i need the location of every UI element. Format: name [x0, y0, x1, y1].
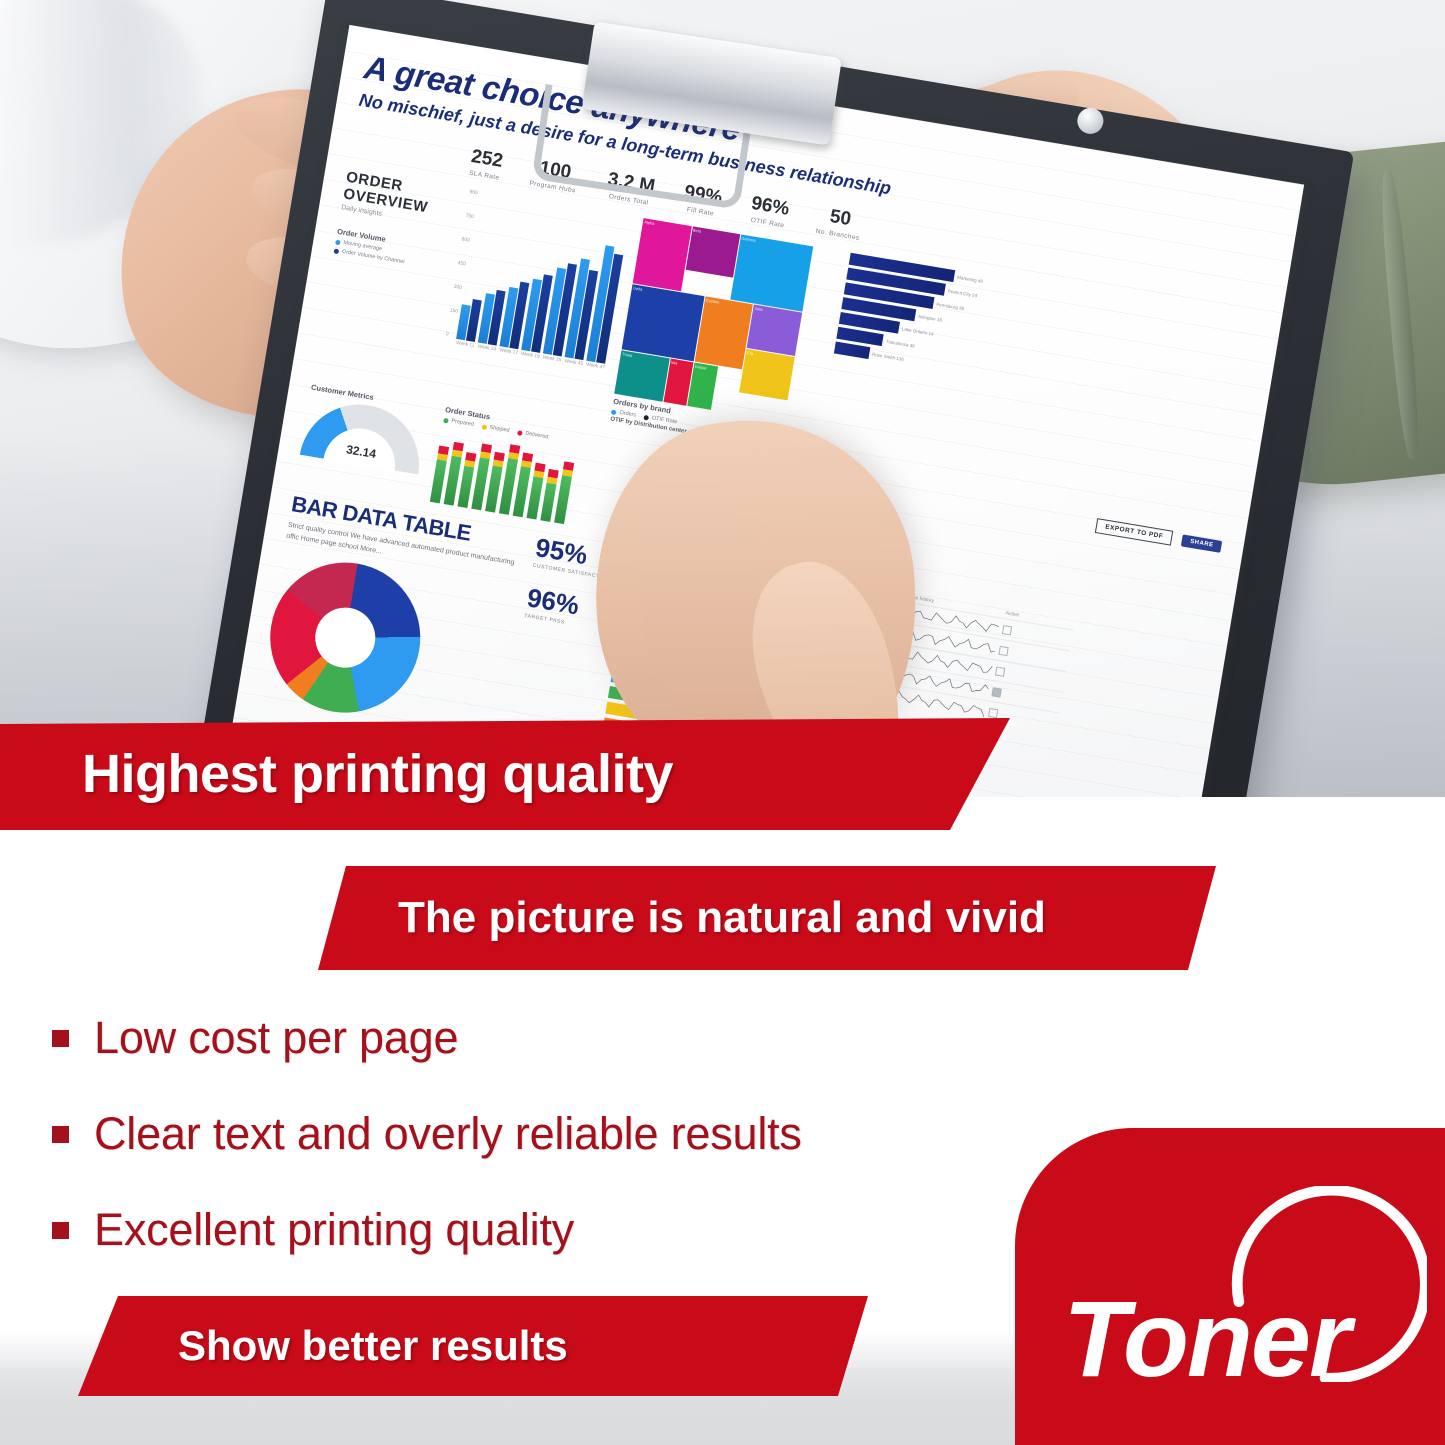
- x-tick: Week 17: [499, 348, 519, 356]
- funnel-bar: [834, 342, 870, 360]
- y-tick: 750: [465, 213, 474, 220]
- y-tick: 600: [461, 236, 470, 243]
- bar-group: [456, 191, 630, 364]
- treemap-tile: Gamma: [730, 234, 813, 311]
- checkbox[interactable]: [995, 666, 1005, 676]
- distribution-bar-chart: Marketing 46Peanut City 24Pennsburg 35Ar…: [817, 253, 1029, 487]
- report-actions: EXPORT TO PDF SHARE: [1082, 514, 1223, 632]
- kpi-value: 252: [470, 146, 505, 173]
- treemap-tile: Theta: [615, 351, 670, 402]
- feature-text: Excellent printing quality: [94, 1204, 574, 1256]
- secondary-banner-text: The picture is natural and vivid: [398, 893, 1046, 943]
- checkbox[interactable]: [988, 707, 998, 717]
- sleeve-fold: [1377, 169, 1422, 460]
- feature-text: Low cost per page: [94, 1012, 458, 1064]
- feature-item: Low cost per page: [52, 1012, 1012, 1064]
- legend-item: Shipped: [481, 423, 510, 434]
- treemap-tile: Eta: [740, 349, 795, 400]
- funnel-label: Arlington 18: [918, 313, 943, 322]
- y-tick: 0: [445, 331, 454, 338]
- y-tick: 150: [449, 307, 458, 314]
- feature-item: Clear text and overly reliable results: [52, 1108, 1012, 1160]
- order-overview-header: ORDER OVERVIEW Daily insights Order Volu…: [314, 169, 457, 391]
- feature-list: Low cost per page Clear text and overly …: [52, 1012, 1012, 1300]
- y-tick: 900: [469, 189, 478, 196]
- kpi-card: 252 SLA Rate: [468, 146, 504, 182]
- funnel-label: Lake Ontario 14: [902, 326, 934, 336]
- funnel-label: Rose Smith 136: [872, 351, 904, 361]
- x-tick: Week 11: [455, 341, 475, 349]
- order-status-panel: Order Status Prepared Shipped Delivered: [430, 405, 580, 524]
- primary-banner: Highest printing quality: [0, 718, 1010, 830]
- treemap-tile: Beta: [685, 226, 740, 277]
- x-tick: Week 33: [477, 344, 497, 352]
- brand-name: Toner: [1063, 1276, 1349, 1401]
- feature-text: Clear text and overly reliable results: [94, 1108, 802, 1160]
- kpi-card: 96% OTIF Rate: [748, 193, 791, 230]
- footer-banner: Show better results: [78, 1296, 868, 1396]
- bar-data-table-panel: BAR DATA TABLE Strict quality control We…: [258, 491, 520, 742]
- treemap-tile: Alpha: [633, 218, 692, 291]
- customer-metrics-panel: Customer Metrics 32.14: [296, 383, 431, 499]
- treemap-tile: Zeta: [747, 305, 802, 356]
- checkbox[interactable]: [999, 645, 1009, 655]
- x-tick: Week 45: [564, 359, 584, 367]
- column-header: Active: [1005, 610, 1019, 618]
- product-photo: A great choice anywhere No mischief, jus…: [0, 0, 1445, 797]
- brand-logo: Toner: [1015, 1128, 1445, 1445]
- order-volume-chart: 900 750 600 450 300 150 0 Week 11Week 33…: [436, 189, 630, 420]
- footer-banner-text: Show better results: [178, 1322, 568, 1370]
- y-tick: 300: [453, 284, 462, 291]
- product-listing-image: A great choice anywhere No mischief, jus…: [0, 0, 1445, 1445]
- share-button[interactable]: SHARE: [1181, 535, 1222, 553]
- legend-item: Prepared: [443, 417, 474, 428]
- bullet-square-icon: [52, 1126, 69, 1143]
- y-tick: 450: [457, 260, 466, 267]
- donut-chart: [259, 551, 432, 724]
- feature-item: Excellent printing quality: [52, 1204, 1012, 1256]
- treemap-tile: Delta: [622, 284, 705, 361]
- checkbox[interactable]: [992, 687, 1002, 697]
- x-tick: Week 19: [520, 352, 540, 360]
- bullet-square-icon: [52, 1222, 69, 1239]
- secondary-banner: The picture is natural and vivid: [318, 866, 1216, 970]
- legend-item: Delivered: [517, 429, 549, 440]
- export-pdf-button[interactable]: EXPORT TO PDF: [1095, 518, 1173, 545]
- funnel-label: Marketing 46: [957, 274, 983, 283]
- treemap-chart: AlphaBetaGammaDeltaEpsilonZetaEtaThetaIo…: [610, 218, 837, 455]
- bullet-square-icon: [52, 1030, 69, 1047]
- primary-banner-text: Highest printing quality: [82, 743, 673, 805]
- x-tick: Week 47: [585, 363, 605, 371]
- kpi-card: 50 No. Branches: [815, 204, 864, 242]
- stat-block: 96% TARGET PASS: [524, 582, 607, 631]
- funnel-label: Peanut City 24: [948, 288, 978, 298]
- x-tick: Week 35: [542, 355, 562, 363]
- checkbox[interactable]: [1002, 625, 1012, 635]
- funnel-label: Pennsburg 35: [936, 301, 964, 311]
- funnel-label: Tuscaloosa 46: [886, 338, 916, 348]
